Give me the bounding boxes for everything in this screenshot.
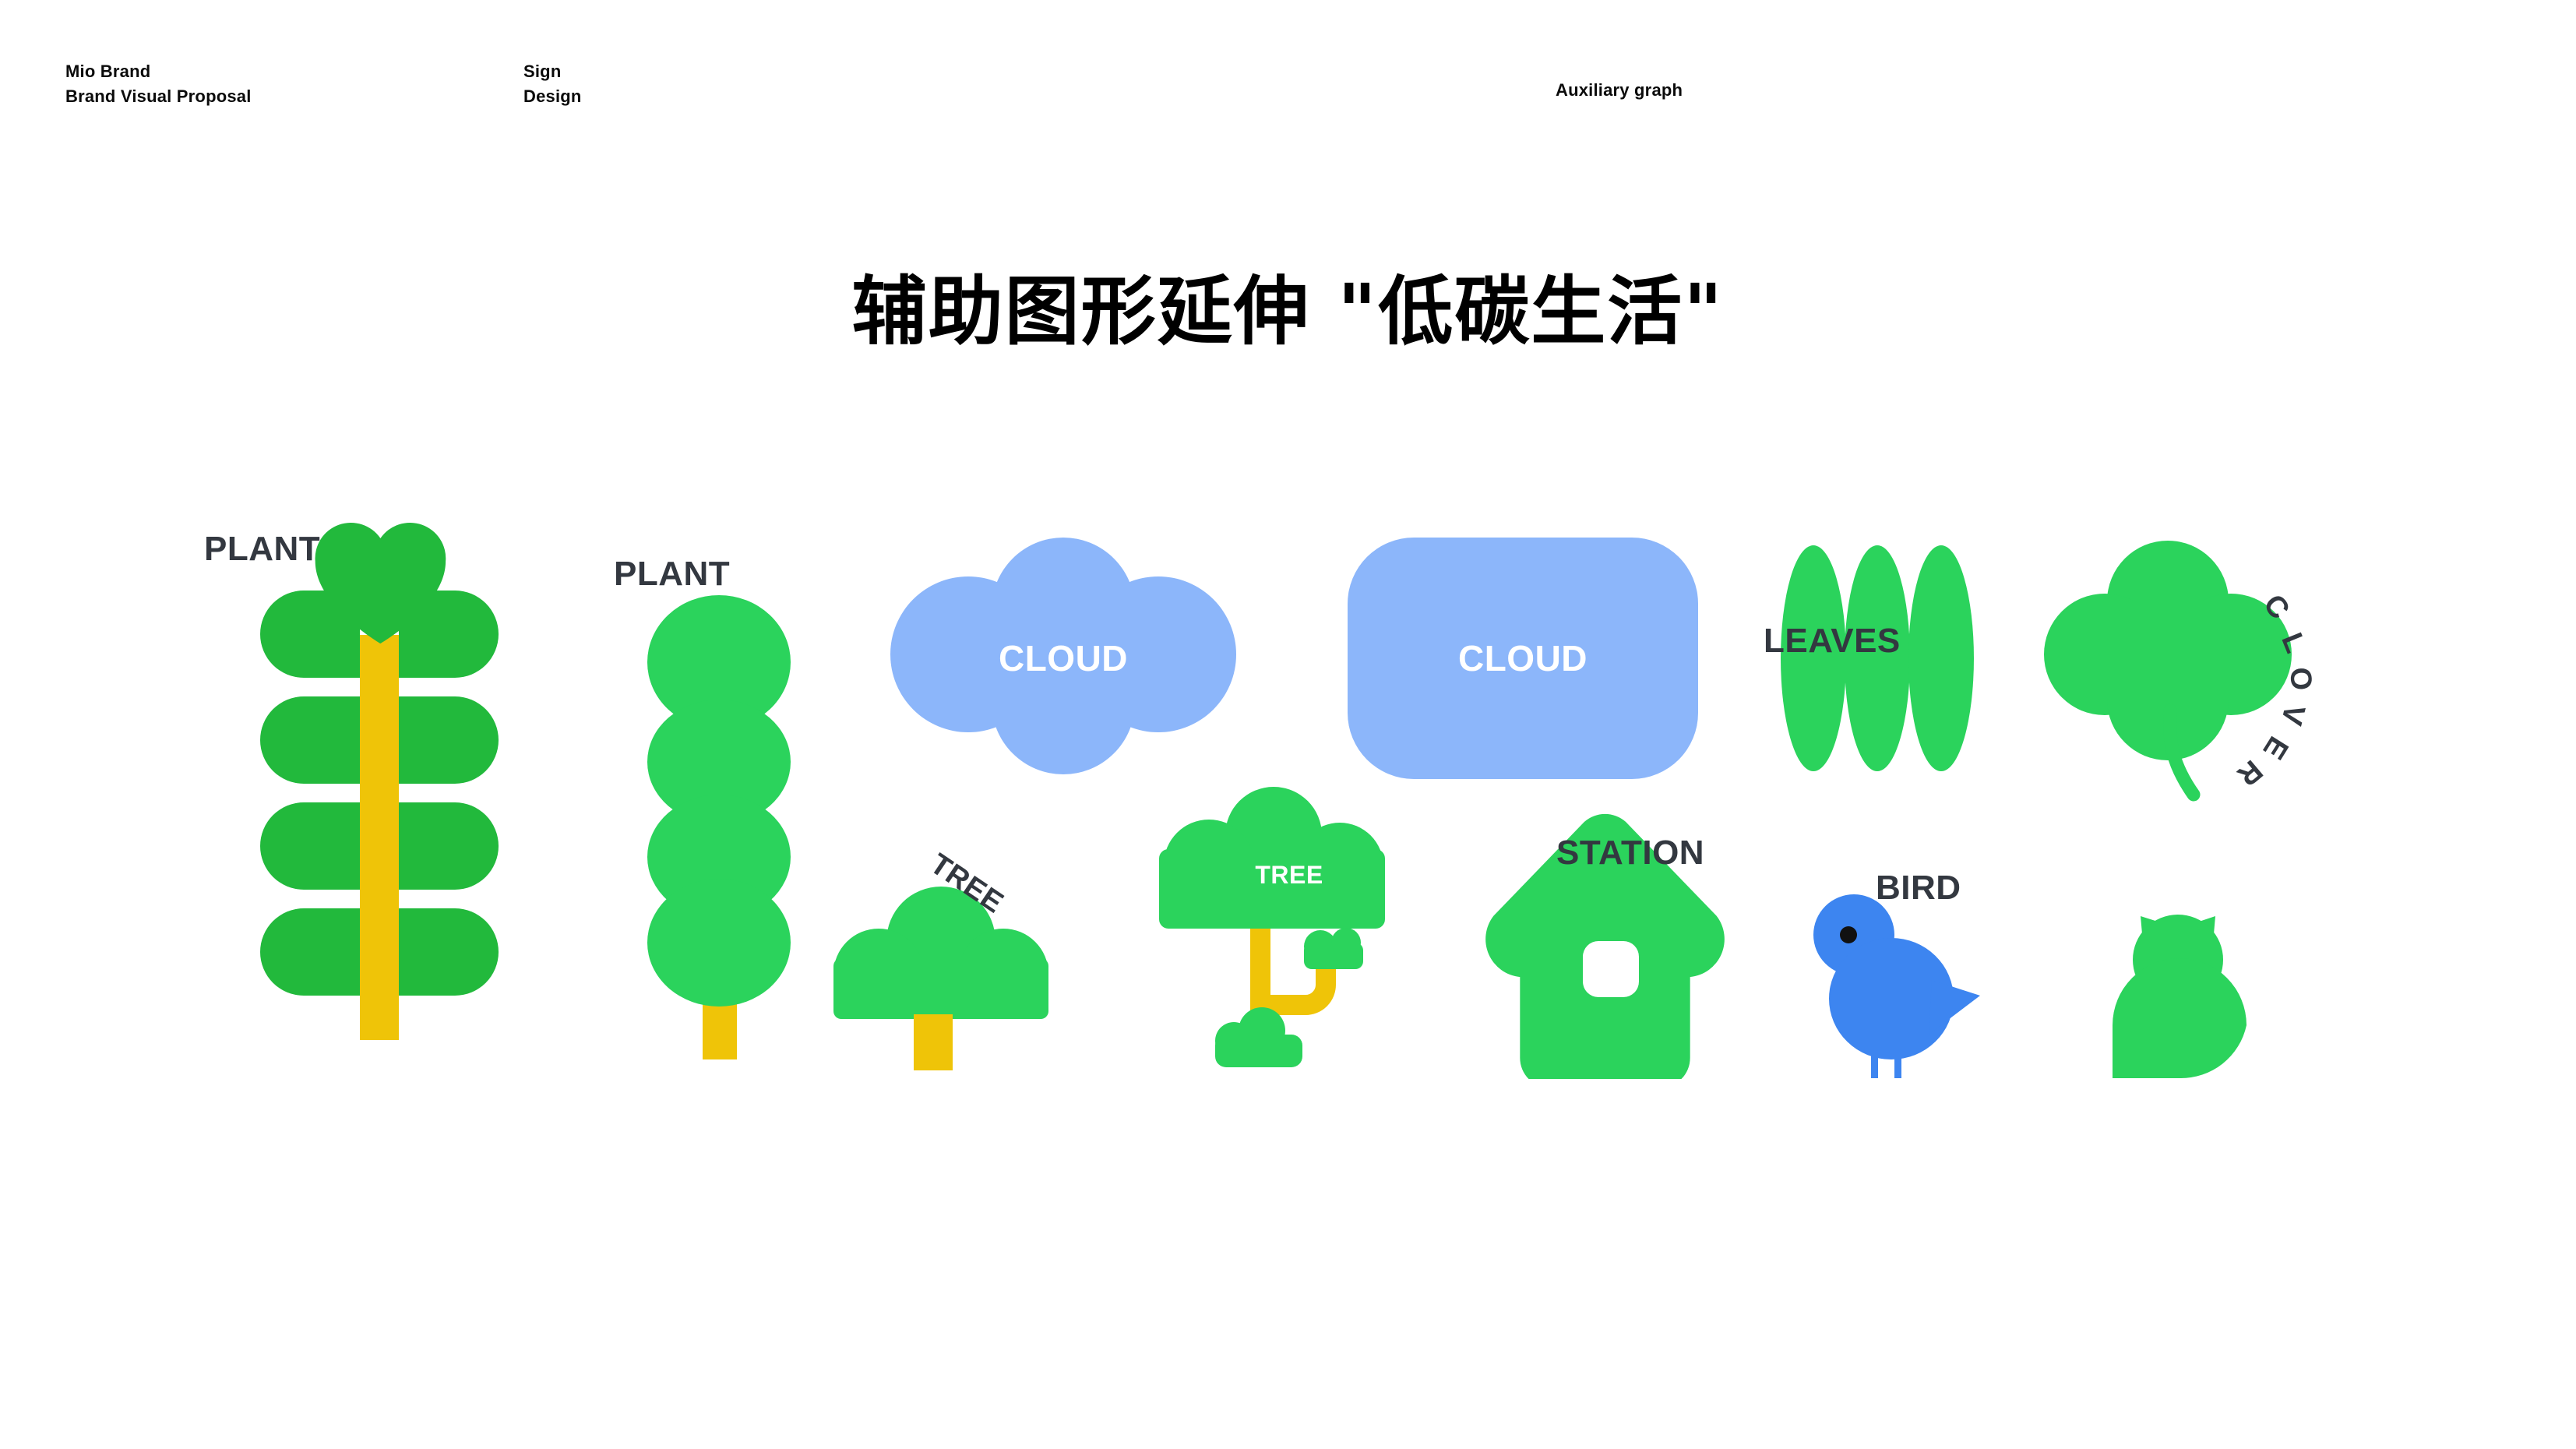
plant-stalk-icon <box>187 514 592 1091</box>
figure-clover[interactable]: C L O V E R <box>2041 530 2345 818</box>
figure-label-leaves: LEAVES <box>1764 622 1901 661</box>
figure-cloud-round[interactable]: CLOUD <box>880 538 1246 779</box>
figure-tree-branching[interactable]: TREE <box>1153 787 1425 1098</box>
leaves-icon <box>1768 530 2025 795</box>
clover-letter-o: O <box>2282 666 2317 691</box>
figure-plant-stalk[interactable]: PLANT <box>187 514 592 1091</box>
figure-label-plant-2: PLANT <box>614 555 730 594</box>
figure-station-house[interactable]: STATION <box>1464 810 1776 1079</box>
figure-leaves[interactable]: LEAVES <box>1768 530 2025 795</box>
figure-bird[interactable]: BIRD <box>1776 849 2041 1083</box>
figure-label-tree-2: TREE <box>1153 861 1425 890</box>
figure-cloud-block[interactable]: CLOUD <box>1348 538 1698 779</box>
figure-cat-silhouette[interactable] <box>2095 888 2298 1091</box>
figure-plant-bubbles[interactable]: PLANT <box>608 538 857 1091</box>
cat-silhouette-icon <box>2095 888 2298 1091</box>
figure-label-cloud-1: CLOUD <box>880 637 1246 679</box>
auxiliary-graphics-board: PLANT PLANT CLOUD <box>0 0 2576 1449</box>
figure-label-plant-1: PLANT <box>204 530 320 569</box>
plant-bubbles-icon <box>608 538 857 1091</box>
figure-label-bird: BIRD <box>1876 869 1961 908</box>
tree-branching-icon <box>1153 787 1425 1098</box>
figure-label-station: STATION <box>1556 834 1704 873</box>
figure-label-cloud-2: CLOUD <box>1348 637 1698 679</box>
figure-tree-small[interactable]: TREE <box>826 841 1098 1098</box>
